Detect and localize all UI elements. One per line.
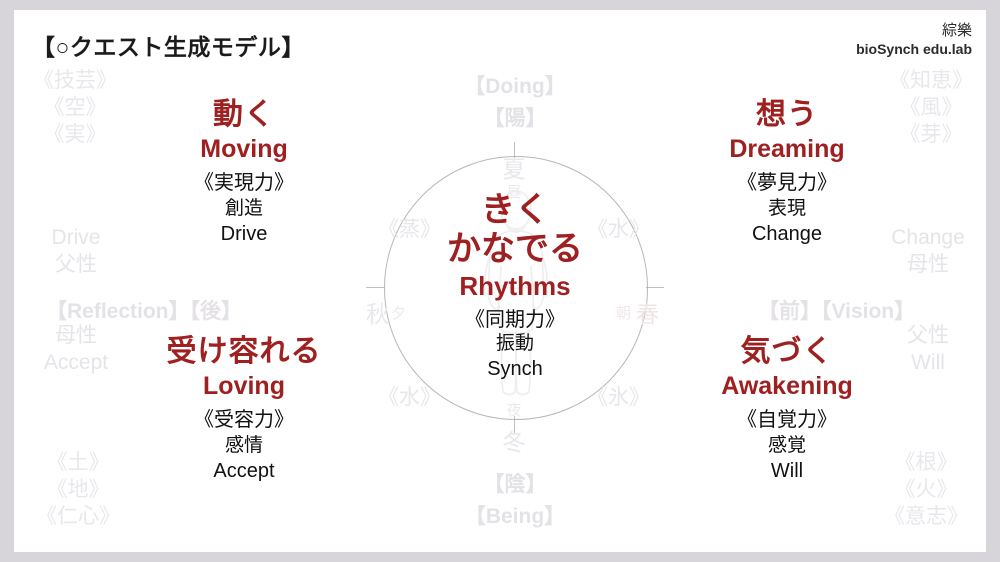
axis-bottom-jp: 【陰】 [420,468,610,498]
axis-top-en: 【Doing】 [420,70,610,100]
quadrant-en: Dreaming [662,135,912,163]
center-power: 《同期力》 [385,309,645,331]
axis-left-en: 【Reflection】 [46,300,190,323]
quadrant-jp: 想う [662,98,912,132]
ghost-label: Accept [20,349,132,376]
quadrant-power: 《受容力》 [119,409,369,431]
center-keyword: 振動 [385,334,645,355]
axis-label-left: 【Reflection】【後】 [14,295,242,325]
quadrant-keyword: 感覚 [662,435,912,456]
inner-label-bottom-time: 夜 [484,399,544,420]
quadrant-en-keyword: Accept [119,460,369,482]
center-text-block: きく かなでる Rhythms 《同期力》 振動 Synch [385,192,645,380]
center-jp-line2: かなでる [385,231,645,268]
quadrant-en: Awakening [662,372,912,400]
quadrant-power: 《自覚力》 [662,409,912,431]
quadrant-en: Moving [119,135,369,163]
brand-block: 綜樂 bioSynch edu.lab [856,22,972,58]
ghost-label: 母性 [872,251,984,278]
ghost-left-upper: Drive 父性 [20,224,132,279]
corner-label: 《空》 [20,95,130,122]
ghost-label: 父性 [20,251,132,278]
center-en: Rhythms [385,272,645,301]
inner-label-bottom-season: 冬 [474,423,554,457]
quadrant-keyword: 創造 [119,198,369,219]
slide-canvas: 【○クエスト生成モデル】 綜樂 bioSynch edu.lab 《技芸》 《空… [14,10,986,552]
axis-tick-left [366,287,384,288]
axis-tick-right [646,287,664,288]
brand-en: bioSynch edu.lab [856,41,972,59]
axis-left-jp: 【後】 [190,300,243,323]
quadrant-bottom-left: 受け容れる Loving 《受容力》 感情 Accept [119,335,369,483]
quadrant-jp: 気づく [662,335,912,369]
ghost-label: Drive [20,224,132,251]
corner-label: 《仁心》 [18,504,138,531]
ghost-label: 母性 [20,322,132,349]
axis-label-bottom: 【陰】 【Being】 [420,468,610,530]
inner-element-lower-right: 《氷》 [587,381,650,411]
quadrant-en: Loving [119,372,369,400]
quadrant-en-keyword: Drive [119,223,369,245]
inner-element-lower-left: 《水》 [378,381,441,411]
axis-label-right: 【前】【Vision】 [758,295,986,325]
corner-label: 《意志》 [866,504,986,531]
ghost-left-lower: 母性 Accept [20,322,132,377]
quadrant-en-keyword: Will [662,460,912,482]
quadrant-jp: 動く [119,98,369,132]
quadrant-top-right: 想う Dreaming 《夢見力》 表現 Change [662,98,912,246]
quadrant-power: 《実現力》 [119,172,369,194]
axis-top-jp: 【陽】 [420,102,610,132]
quadrant-en-keyword: Change [662,223,912,245]
quadrant-keyword: 感情 [119,435,369,456]
quadrant-top-left: 動く Moving 《実現力》 創造 Drive [119,98,369,246]
quadrant-jp: 受け容れる [119,335,369,369]
page-title: 【○クエスト生成モデル】 [32,28,305,62]
corner-label: 《技芸》 [20,68,130,95]
corner-labels-top-left: 《技芸》 《空》 《実》 [20,68,130,149]
axis-right-jp: 【前】 [758,300,821,323]
axis-bottom-en: 【Being】 [420,500,610,530]
corner-label: 《知恵》 [876,68,986,95]
center-en-keyword: Synch [385,358,645,380]
center-jp-line1: きく [385,192,645,229]
axis-right-en: 【Vision】 [821,300,915,323]
quadrant-keyword: 表現 [662,198,912,219]
corner-label: 《実》 [20,122,130,149]
axis-label-top: 【Doing】 【陽】 [420,70,610,132]
quadrant-bottom-right: 気づく Awakening 《自覚力》 感覚 Will [662,335,912,483]
brand-jp: 綜樂 [856,22,972,41]
quadrant-power: 《夢見力》 [662,172,912,194]
inner-label-top-season: 夏 [474,150,554,184]
